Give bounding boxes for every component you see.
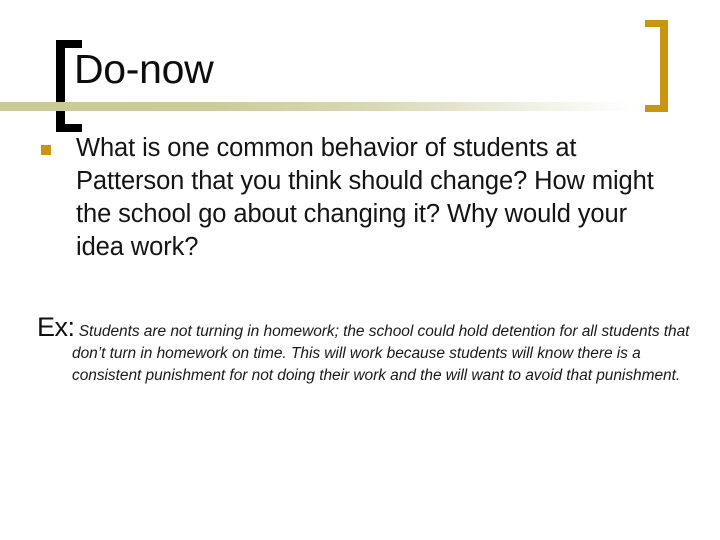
right-bracket-icon bbox=[645, 20, 668, 112]
bullet-text: What is one common behavior of students … bbox=[76, 134, 654, 261]
list-item: What is one common behavior of students … bbox=[0, 132, 720, 264]
title-area: Do-now bbox=[0, 0, 720, 132]
example-label: Ex: bbox=[37, 312, 75, 342]
example-block: Ex: Students are not turning in homework… bbox=[35, 312, 720, 387]
slide-title: Do-now bbox=[74, 47, 213, 92]
slide: Do-now What is one common behavior of st… bbox=[0, 0, 720, 540]
title-divider bbox=[0, 102, 640, 111]
square-bullet-icon bbox=[41, 145, 51, 155]
slide-body: What is one common behavior of students … bbox=[0, 132, 720, 264]
example-text: Students are not turning in homework; th… bbox=[72, 323, 689, 384]
